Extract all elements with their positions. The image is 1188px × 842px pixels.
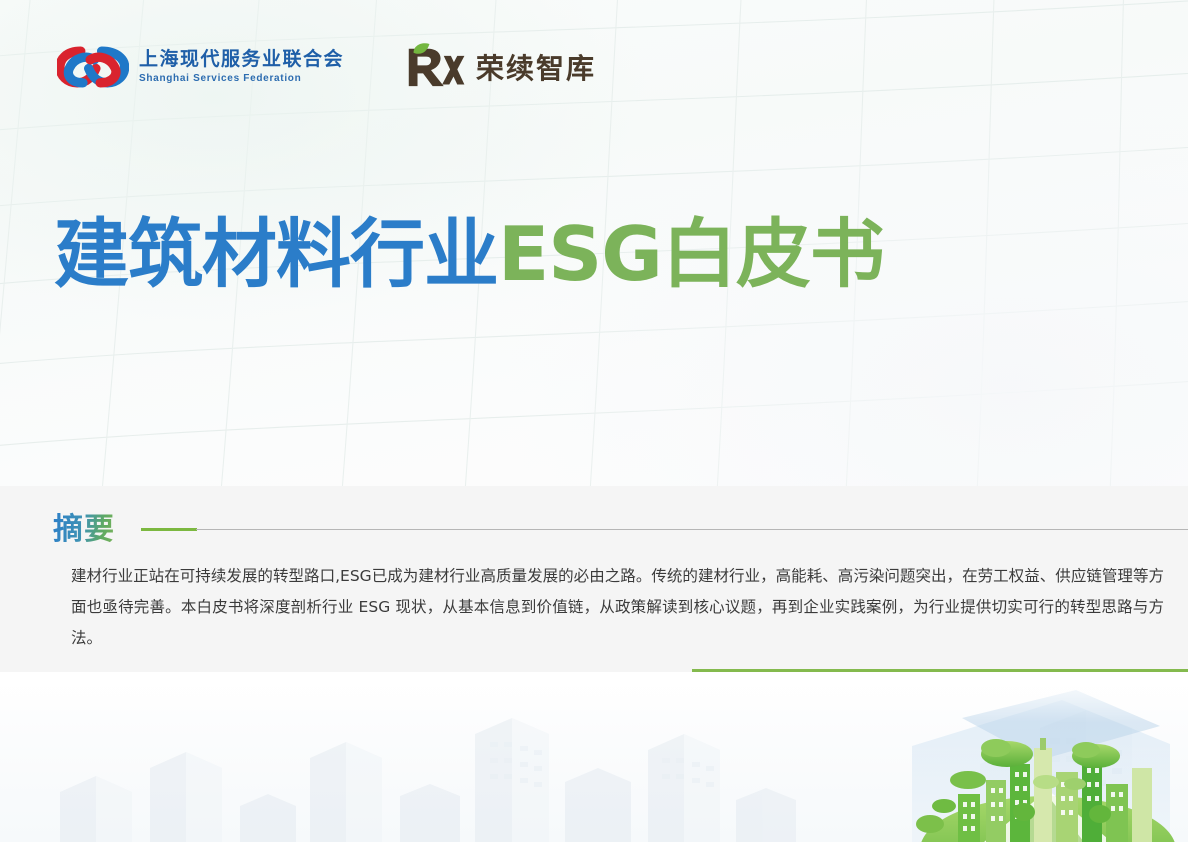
logo-bar: 上海现代服务业联合会 Shanghai Services Federation … <box>57 38 596 96</box>
whitepaper-cover-page: 上海现代服务业联合会 Shanghai Services Federation … <box>0 0 1188 842</box>
abstract-rule-gray <box>196 529 1188 530</box>
page-title-part-esg: ESG白皮书 <box>498 210 884 298</box>
logo-shanghai-services-federation: 上海现代服务业联合会 Shanghai Services Federation <box>57 44 344 90</box>
logo-rongxu-thinktank: 荣续智库 <box>404 43 596 91</box>
abstract-rule-green <box>141 528 197 531</box>
federation-name-cn: 上海现代服务业联合会 <box>139 50 344 69</box>
abstract-heading-group: 摘要 <box>53 504 115 548</box>
page-title-part-industry: 建筑材料行业 <box>54 210 498 298</box>
isometric-eco-city-icon <box>0 672 1188 842</box>
federation-name-en: Shanghai Services Federation <box>139 74 344 84</box>
footer-illustration <box>0 672 1188 842</box>
infinity-loop-icon <box>57 44 129 90</box>
abstract-section: 摘要 建材行业正站在可持续发展的转型路口,ESG已成为建材行业高质量发展的必由之… <box>0 486 1188 672</box>
abstract-heading: 摘要 <box>53 504 115 548</box>
thinktank-name-cn: 荣续智库 <box>476 47 596 87</box>
rx-leaf-icon <box>404 43 466 91</box>
federation-wordmark: 上海现代服务业联合会 Shanghai Services Federation <box>139 50 344 84</box>
page-title: 建筑材料行业ESG白皮书 <box>54 214 884 295</box>
abstract-body-text: 建材行业正站在可持续发展的转型路口,ESG已成为建材行业高质量发展的必由之路。传… <box>71 561 1164 654</box>
hero-section: 上海现代服务业联合会 Shanghai Services Federation … <box>0 0 1188 486</box>
